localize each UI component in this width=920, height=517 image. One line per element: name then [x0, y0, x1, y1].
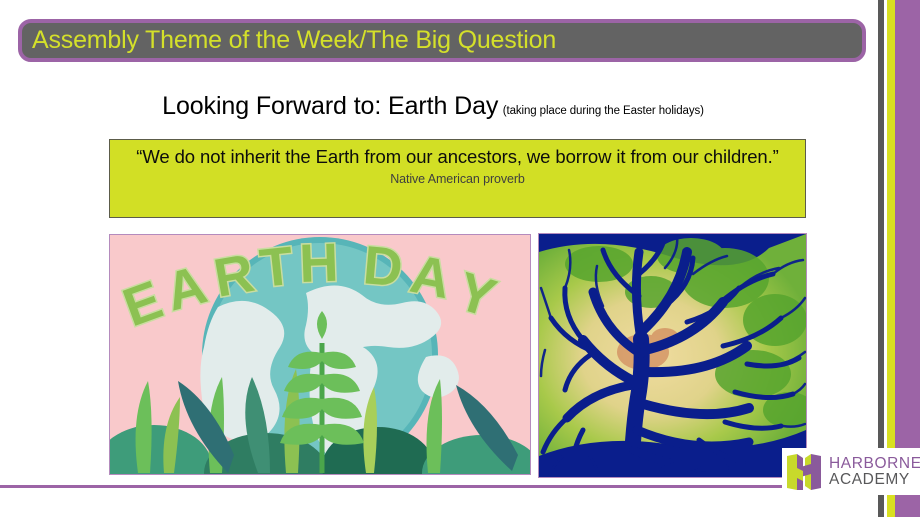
harborne-h-monogram-icon: [785, 452, 823, 492]
logo: HARBORNE ACADEMY: [782, 448, 920, 495]
gray-stripe: [878, 0, 884, 517]
svg-text:T: T: [257, 236, 296, 299]
slide-title: Assembly Theme of the Week/The Big Quest…: [22, 28, 556, 53]
quote-attribution: Native American proverb: [118, 172, 797, 186]
yellow-stripe: [887, 0, 895, 517]
purple-stripe: [895, 0, 920, 517]
heading-row: Looking Forward to: Earth Day (taking pl…: [0, 92, 866, 121]
svg-text:D: D: [361, 235, 405, 298]
earth-day-illustration: E A R T H D A Y: [110, 235, 530, 474]
heading-note: (taking place during the Easter holidays…: [503, 105, 704, 117]
quote-text: “We do not inherit the Earth from our an…: [118, 145, 797, 169]
logo-line-academy: ACADEMY: [829, 472, 920, 488]
slide-title-bar: Assembly Theme of the Week/The Big Quest…: [18, 19, 866, 62]
logo-wordmark: HARBORNE ACADEMY: [829, 456, 920, 488]
river-delta-illustration: [539, 234, 806, 477]
slide-canvas: Assembly Theme of the Week/The Big Quest…: [0, 0, 920, 517]
svg-text:H: H: [298, 235, 339, 294]
earth-day-poster-image: E A R T H D A Y: [109, 234, 531, 475]
page-title: Looking Forward to: Earth Day: [162, 92, 498, 120]
logo-line-harborne: HARBORNE: [829, 456, 920, 472]
river-delta-satellite-image: [538, 233, 807, 478]
quote-box: “We do not inherit the Earth from our an…: [109, 139, 806, 218]
